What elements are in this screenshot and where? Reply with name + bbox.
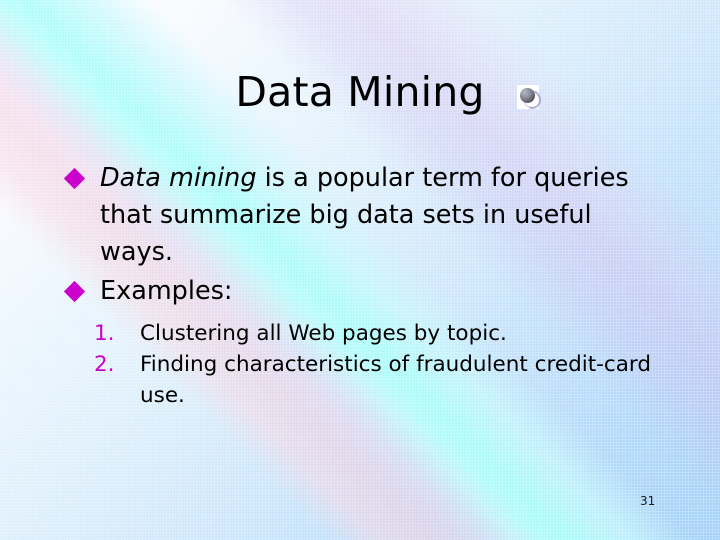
slide-title: Data Mining — [0, 68, 720, 116]
list-item: 1. Clustering all Web pages by topic. — [60, 318, 660, 349]
bullet-item-text: Data mining is a popular term for querie… — [100, 160, 660, 271]
slide-body: Data mining is a popular term for querie… — [60, 160, 660, 411]
numbered-list: 1. Clustering all Web pages by topic. 2.… — [60, 318, 660, 411]
bullet-emphasis-text: Data mining — [100, 163, 257, 193]
bullet-item-text: Examples: — [100, 273, 660, 310]
list-item-text: Clustering all Web pages by topic. — [140, 318, 660, 349]
bullet-body-text: Examples: — [100, 276, 233, 306]
diamond-bullet-icon — [64, 168, 85, 189]
list-item-number: 2. — [94, 349, 140, 380]
list-item: 2. Finding characteristics of fraudulent… — [60, 349, 660, 411]
presentation-slide: Data Mining Data mining is a popular ter… — [0, 0, 720, 540]
list-item-number: 1. — [94, 318, 140, 349]
slide-page-number: 31 — [640, 494, 655, 508]
bullet-item: Examples: — [60, 273, 660, 310]
sphere-clipart-icon — [517, 85, 539, 109]
diamond-bullet-icon — [64, 281, 85, 302]
bullet-item: Data mining is a popular term for querie… — [60, 160, 660, 271]
list-item-text: Finding characteristics of fraudulent cr… — [140, 349, 660, 411]
